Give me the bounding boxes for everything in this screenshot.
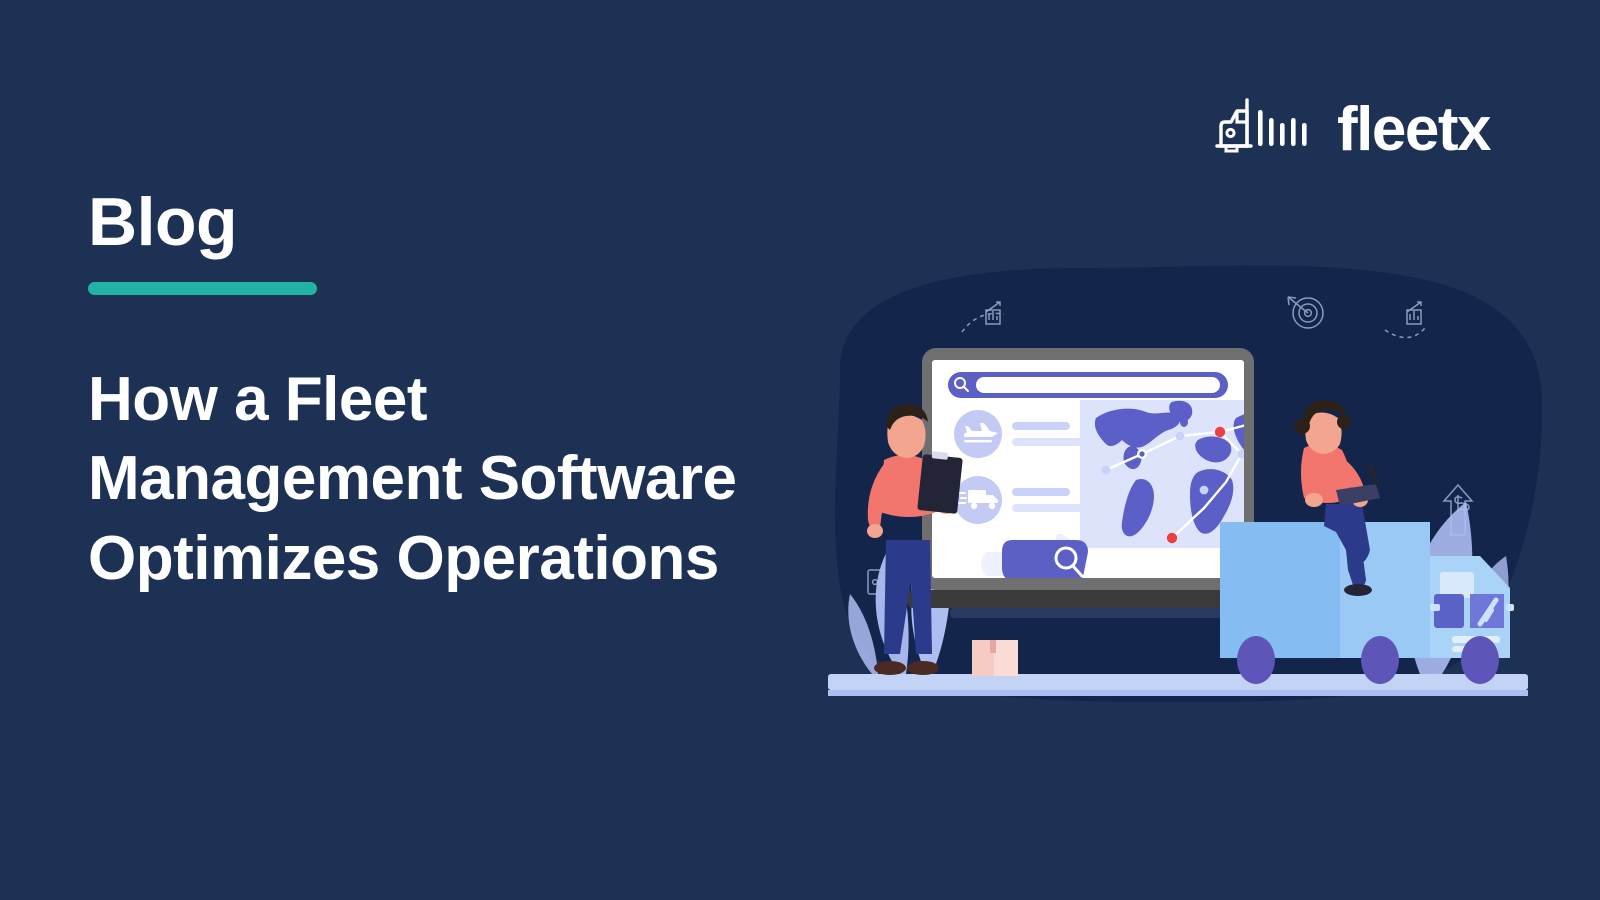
blog-banner: fleetx Blog How a Fleet Management Softw… — [0, 0, 1600, 900]
map-marker-red — [1167, 533, 1177, 543]
wheel — [1237, 636, 1275, 684]
ground-platform — [828, 674, 1528, 690]
cardboard-box — [972, 640, 1018, 676]
map-marker-red — [1215, 427, 1225, 437]
wheel — [1361, 636, 1399, 684]
hero-illustration — [780, 250, 1570, 720]
page-kicker: Blog — [88, 188, 317, 256]
fleetx-logo[interactable]: fleetx — [1213, 96, 1490, 163]
wheel — [1461, 636, 1499, 684]
search-bar — [948, 372, 1228, 398]
logo-wordmark: fleetx — [1337, 99, 1490, 161]
clipboard — [917, 451, 963, 514]
page-title: How a Fleet Management Software Optimize… — [88, 360, 778, 598]
kicker-block: Blog — [88, 188, 317, 295]
truck-speed-lines-icon — [1213, 96, 1323, 163]
kicker-underline — [88, 282, 317, 295]
